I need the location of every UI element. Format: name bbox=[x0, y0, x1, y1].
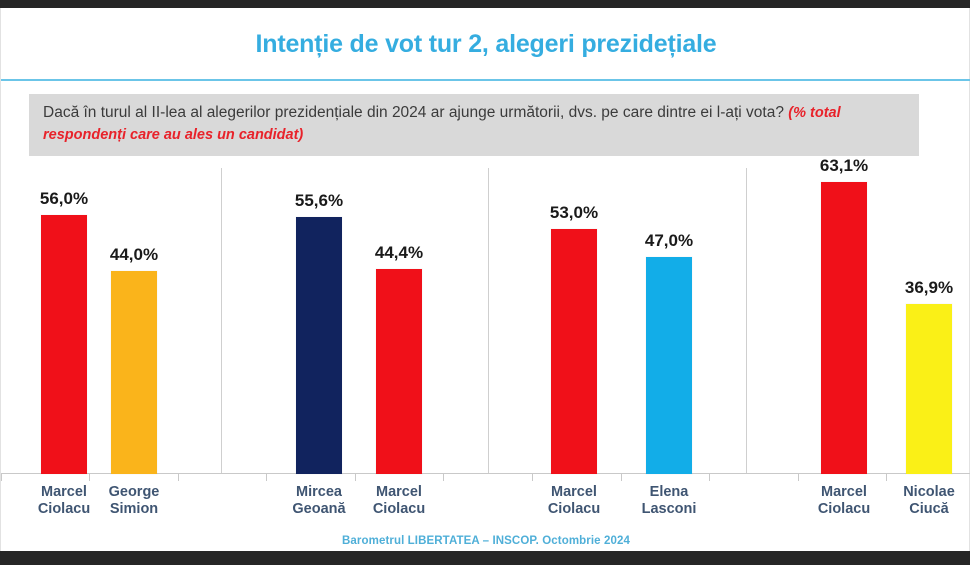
category-label-line2: Ciolacu bbox=[344, 501, 454, 518]
bar-value-label: 63,1% bbox=[799, 156, 889, 176]
chart-screenshot: Intenție de vot tur 2, alegeri prezideți… bbox=[0, 0, 970, 565]
axis-tick bbox=[709, 474, 710, 481]
axis-tick bbox=[886, 474, 887, 481]
category-label-line2: Simion bbox=[79, 501, 189, 518]
axis-tick bbox=[798, 474, 799, 481]
bar bbox=[821, 182, 867, 474]
category-label: NicolaeCiucă bbox=[874, 484, 970, 518]
category-label: MarcelCiolacu bbox=[519, 484, 629, 518]
category-label-line1: George bbox=[79, 484, 189, 501]
question-box: Dacă în turul al II-lea al alegerilor pr… bbox=[29, 94, 919, 156]
axis-tick bbox=[532, 474, 533, 481]
question-text: Dacă în turul al II-lea al alegerilor pr… bbox=[43, 102, 905, 147]
bar bbox=[551, 229, 597, 474]
bar bbox=[646, 257, 692, 474]
bar-value-label: 53,0% bbox=[529, 203, 619, 223]
bar bbox=[376, 269, 422, 474]
category-label-line2: Ciolacu bbox=[519, 501, 629, 518]
bar-value-label: 44,0% bbox=[89, 245, 179, 265]
bar-value-label: 36,9% bbox=[884, 278, 970, 298]
slide-canvas: Intenție de vot tur 2, alegeri prezideți… bbox=[0, 8, 970, 551]
category-label: ElenaLasconi bbox=[614, 484, 724, 518]
axis-tick bbox=[355, 474, 356, 481]
category-label: GeorgeSimion bbox=[79, 484, 189, 518]
axis-tick bbox=[266, 474, 267, 481]
bar-value-label: 44,4% bbox=[354, 243, 444, 263]
bottom-edge-band bbox=[0, 551, 970, 565]
title-underline-rule bbox=[1, 79, 970, 81]
bar bbox=[41, 215, 87, 474]
category-label-line1: Marcel bbox=[344, 484, 454, 501]
axis-tick bbox=[621, 474, 622, 481]
bar-value-label: 56,0% bbox=[19, 189, 109, 209]
question-main: Dacă în turul al II-lea al alegerilor pr… bbox=[43, 104, 788, 121]
group-divider bbox=[746, 168, 747, 473]
category-label-line1: Nicolae bbox=[874, 484, 970, 501]
bar-value-label: 55,6% bbox=[274, 191, 364, 211]
group-divider bbox=[221, 168, 222, 473]
group-divider bbox=[488, 168, 489, 473]
axis-tick bbox=[1, 474, 2, 481]
category-label-line1: Elena bbox=[614, 484, 724, 501]
category-label-line2: Lasconi bbox=[614, 501, 724, 518]
category-label-line1: Marcel bbox=[519, 484, 629, 501]
category-label-line2: Ciucă bbox=[874, 501, 970, 518]
axis-tick bbox=[178, 474, 179, 481]
category-label: MarcelCiolacu bbox=[344, 484, 454, 518]
chart-source-footer: Barometrul LIBERTATEA – INSCOP. Octombri… bbox=[1, 535, 970, 547]
bar bbox=[111, 271, 157, 474]
axis-tick bbox=[443, 474, 444, 481]
page-title: Intenție de vot tur 2, alegeri prezideți… bbox=[1, 30, 970, 59]
axis-tick bbox=[89, 474, 90, 481]
bar bbox=[906, 304, 952, 474]
bar bbox=[296, 217, 342, 474]
top-edge-band bbox=[0, 0, 970, 8]
bar-value-label: 47,0% bbox=[624, 231, 714, 251]
